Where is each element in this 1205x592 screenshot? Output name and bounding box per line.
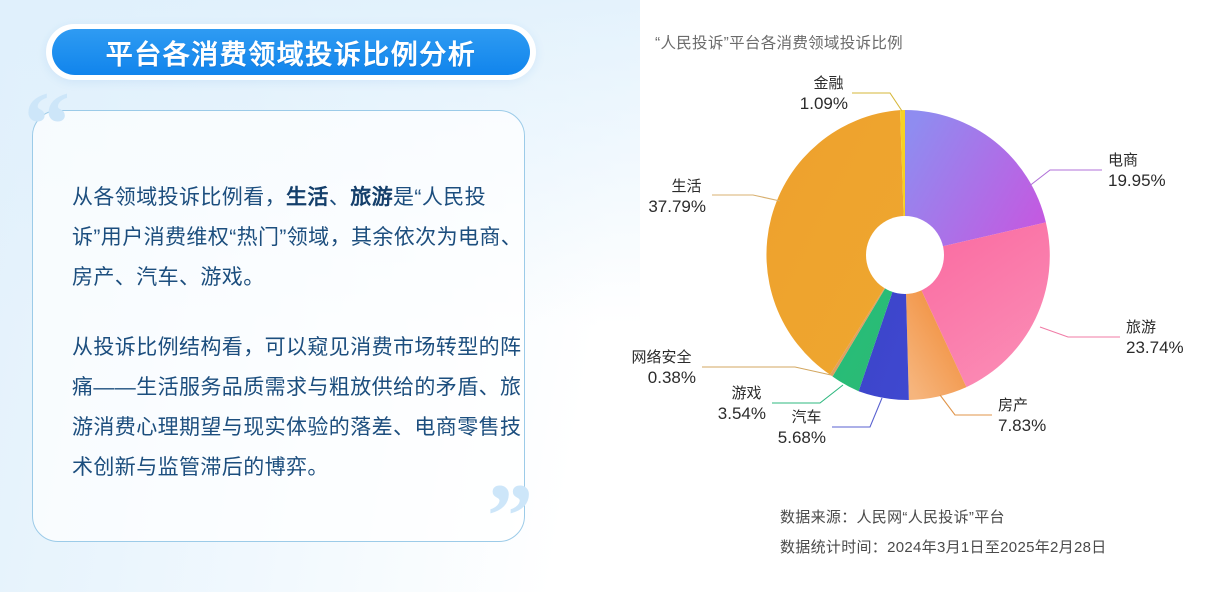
data-source: 数据来源：人民网“人民投诉”平台 [780,503,1107,533]
pie-label-生活: 生活 37.79% [648,178,706,216]
pie-label-网络安全-name: 网络安全 [632,348,692,366]
quote-open-icon: “ [24,78,70,170]
page-title: 平台各消费领域投诉比例分析 [106,33,477,72]
pie-label-汽车: 汽车 5.68% [778,409,826,447]
pie-label-电商: 电商 19.95% [1108,152,1166,190]
pie-label-旅游-name: 旅游 [1126,319,1156,336]
p1-part-a: 从各领域投诉比例看， [72,186,286,209]
p1-highlight-1: 生活 [286,186,329,209]
pie-label-金融: 金融 1.09% [800,75,848,113]
pie-label-网络安全: 网络安全 0.38% [632,348,696,387]
infographic-page: 平台各消费领域投诉比例分析 “ ” 从各领域投诉比例看，生活、旅游是“人民投诉”… [0,0,1205,592]
pie-label-房产-name: 房产 [998,397,1028,414]
title-badge-fill: 平台各消费领域投诉比例分析 [52,29,530,75]
insight-body: 从各领域投诉比例看，生活、旅游是“人民投诉”用户消费维权“热门”领域，其余依次为… [72,178,524,488]
insight-paragraph-2: 从投诉比例结构看，可以窥见消费市场转型的阵痛——生活服务品质需求与粗放供给的矛盾… [72,328,524,488]
pie-label-生活-name: 生活 [672,178,702,195]
pie-label-汽车-name: 汽车 [792,409,822,426]
pie-label-游戏-value: 3.54% [718,404,766,423]
pie-label-游戏-name: 游戏 [732,385,762,402]
pie-label-游戏: 游戏 3.54% [718,385,766,423]
donut-slices [766,110,1049,400]
pie-label-旅游: 旅游 23.74% [1126,319,1184,357]
pie-label-房产-value: 7.83% [998,416,1046,435]
insight-paragraph-1: 从各领域投诉比例看，生活、旅游是“人民投诉”用户消费维权“热门”领域，其余依次为… [72,178,524,298]
p1-part-b: 、 [329,186,350,209]
chart-footer: 数据来源：人民网“人民投诉”平台 数据统计时间：2024年3月1日至2025年2… [780,503,1107,563]
donut-chart: 金融 1.09% 电商 19.95% 旅游 23.74% 房产 7.83% 汽车… [620,55,1205,495]
pie-label-金融-value: 1.09% [800,94,848,113]
data-period: 数据统计时间：2024年3月1日至2025年2月28日 [780,533,1107,563]
pie-label-汽车-value: 5.68% [778,428,826,447]
pie-label-房产: 房产 7.83% [998,397,1046,435]
pie-label-网络安全-value: 0.38% [648,368,696,387]
pie-label-生活-value: 37.79% [648,197,706,216]
p1-highlight-2: 旅游 [350,186,393,209]
pie-label-金融-name: 金融 [814,75,844,92]
chart-title: “人民投诉”平台各消费领域投诉比例 [655,31,903,53]
pie-label-电商-name: 电商 [1108,152,1138,169]
pie-label-旅游-value: 23.74% [1126,338,1184,357]
pie-label-电商-value: 19.95% [1108,171,1166,190]
donut-hole [866,216,944,294]
panel-title-badge: 平台各消费领域投诉比例分析 [46,24,536,80]
